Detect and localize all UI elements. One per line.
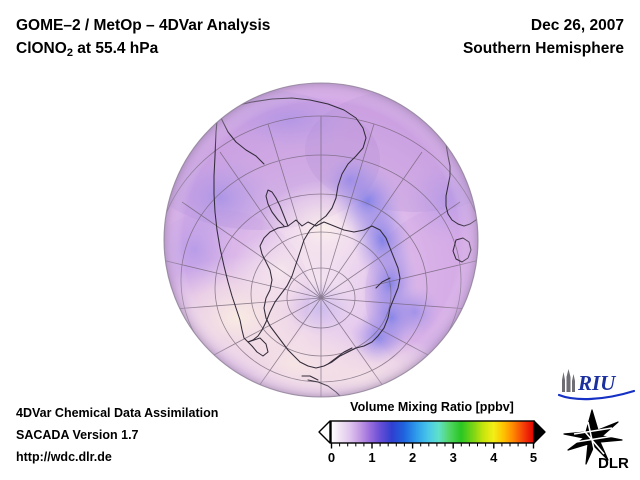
colorbar-tick-3: 3 [450, 450, 457, 465]
footer-line-url[interactable]: http://wdc.dlr.de [16, 446, 218, 468]
colorbar-tick-labels: 0 1 2 3 4 5 [318, 450, 546, 468]
colorbar: Volume Mixing Ratio [ppbv] [318, 400, 546, 468]
dlr-wordmark: DLR [598, 455, 629, 470]
footer-credits: 4DVar Chemical Data Assimilation SACADA … [16, 402, 218, 468]
figure-canvas: GOME–2 / MetOp – 4DVar Analysis ClONO2 a… [0, 0, 640, 480]
species-subscript: 2 [67, 47, 73, 59]
pressure-level-label: at 55.4 hPa [73, 40, 158, 57]
header-right: Dec 26, 2007 Southern Hemisphere [463, 14, 624, 60]
colorbar-tick-5: 5 [530, 450, 537, 465]
figure-subtitle: ClONO2 at 55.4 hPa [16, 37, 270, 62]
riu-logo: RIU [556, 368, 636, 402]
colorbar-right-cap-icon [534, 421, 545, 443]
hemisphere-label: Southern Hemisphere [463, 37, 624, 60]
colorbar-tick-1: 1 [368, 450, 375, 465]
footer-line-version: SACADA Version 1.7 [16, 424, 218, 446]
date-label: Dec 26, 2007 [463, 14, 624, 37]
colorbar-gradient [331, 421, 534, 443]
coastline-australia [404, 84, 452, 106]
footer-line-assimilation: 4DVar Chemical Data Assimilation [16, 402, 218, 424]
colorbar-left-cap-icon [319, 421, 330, 443]
colorbar-tick-0: 0 [328, 450, 335, 465]
globe-map [160, 80, 482, 402]
riu-towers-icon [562, 369, 575, 392]
header-left: GOME–2 / MetOp – 4DVar Analysis ClONO2 a… [16, 14, 270, 62]
colorbar-tick-4: 4 [490, 450, 497, 465]
colorbar-ticks [332, 443, 534, 449]
species-label: ClONO [16, 40, 67, 57]
figure-title: GOME–2 / MetOp – 4DVar Analysis [16, 14, 270, 37]
colorbar-tick-2: 2 [409, 450, 416, 465]
colorbar-title: Volume Mixing Ratio [ppbv] [318, 400, 546, 414]
riu-wordmark: RIU [577, 371, 617, 395]
dlr-logo: DLR [562, 408, 636, 470]
